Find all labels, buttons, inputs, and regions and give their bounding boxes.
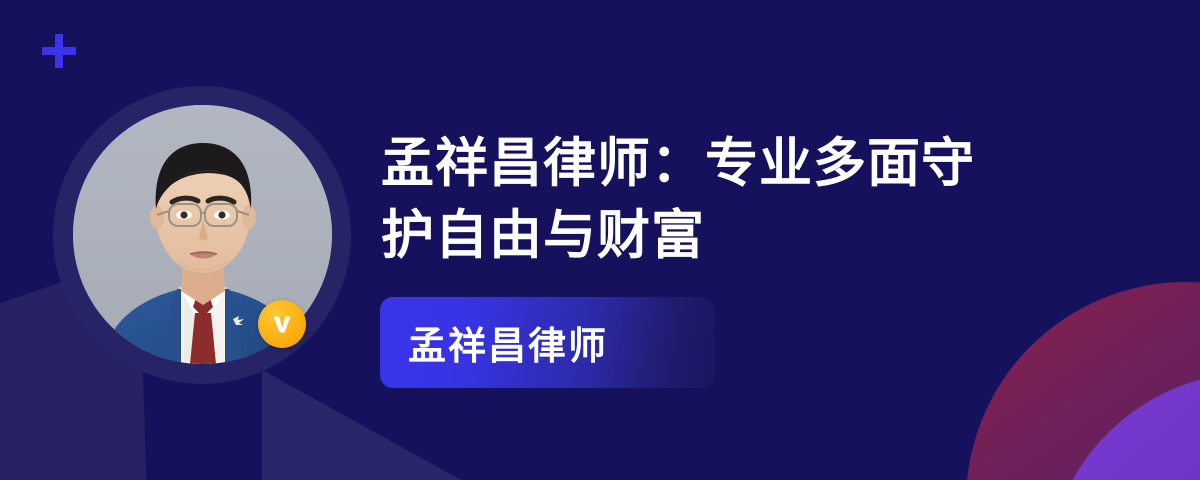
avatar (53, 86, 351, 384)
lawyer-name-button[interactable]: 孟祥昌律师 (380, 297, 715, 388)
lawyer-profile-banner: 孟祥昌律师：专业多面守 护自由与财富 孟祥昌律师 (0, 0, 1200, 480)
verified-badge (258, 300, 306, 348)
plus-icon (42, 34, 76, 68)
page-title: 孟祥昌律师：专业多面守 护自由与财富 (381, 128, 1081, 272)
